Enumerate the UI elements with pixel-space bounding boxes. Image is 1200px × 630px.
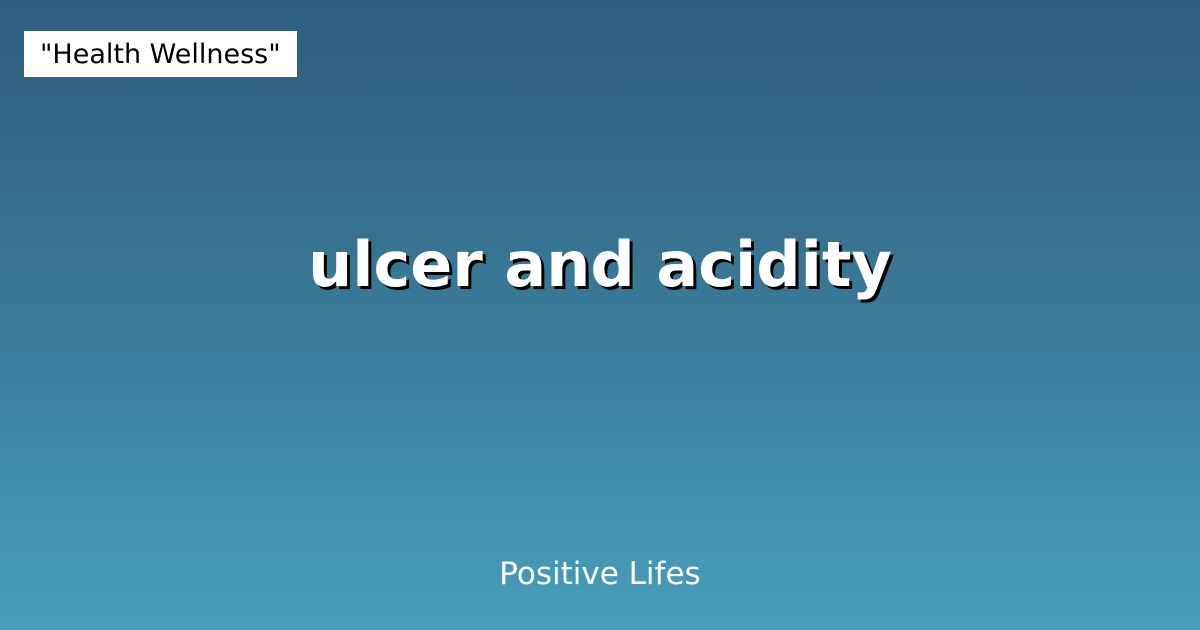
brand-name: Positive Lifes (499, 559, 700, 590)
headline-container: ulcer and acidity (0, 228, 1200, 301)
social-card: "Health Wellness" ulcer and acidity Posi… (0, 0, 1200, 630)
footer-container: Positive Lifes (0, 559, 1200, 590)
category-badge: "Health Wellness" (24, 31, 297, 77)
category-badge-label: "Health Wellness" (40, 41, 281, 68)
page-title: ulcer and acidity (308, 228, 892, 301)
